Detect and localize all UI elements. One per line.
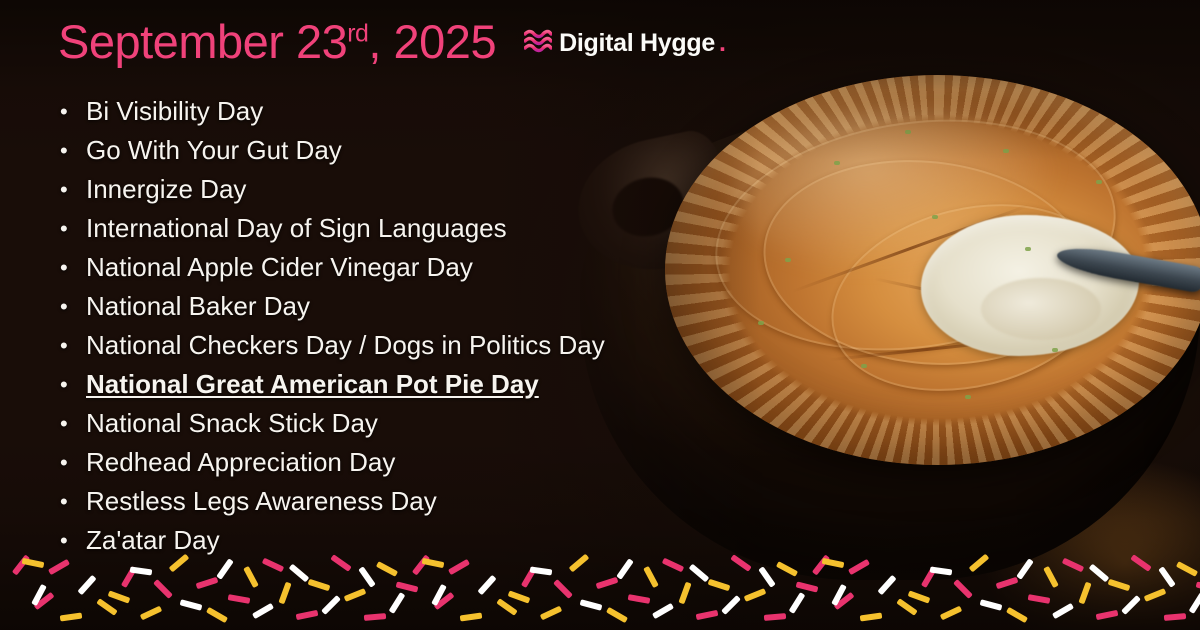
- bullet-icon: •: [60, 365, 86, 404]
- bullet-icon: •: [60, 248, 86, 287]
- sprinkle: [1052, 603, 1074, 619]
- list-item[interactable]: •International Day of Sign Languages: [60, 209, 605, 248]
- bullet-icon: •: [60, 131, 86, 170]
- bullet-icon: •: [60, 443, 86, 482]
- list-item-label: National Baker Day: [86, 287, 310, 326]
- list-item-label: Bi Visibility Day: [86, 92, 263, 131]
- parsley-flake: [1003, 149, 1009, 153]
- sprinkle: [96, 598, 117, 616]
- sprinkle: [1108, 579, 1131, 592]
- bullet-icon: •: [60, 170, 86, 209]
- sprinkle: [940, 606, 962, 621]
- bullet-icon: •: [60, 404, 86, 443]
- sprinkle: [422, 558, 445, 568]
- sprinkle: [206, 607, 228, 623]
- sprinkle: [330, 554, 351, 572]
- parsley-flake: [834, 161, 840, 165]
- list-item[interactable]: •National Apple Cider Vinegar Day: [60, 248, 605, 287]
- sprinkle: [696, 610, 719, 620]
- sprinkle: [730, 554, 751, 572]
- sprinkle: [1016, 558, 1034, 579]
- sprinkle: [877, 575, 896, 595]
- sprinkle: [996, 577, 1019, 590]
- sprinkle: [296, 610, 319, 620]
- sprinkle: [344, 588, 367, 602]
- sprinkle: [460, 612, 483, 621]
- sprinkle: [969, 554, 990, 573]
- sprinkle: [396, 581, 419, 592]
- confetti-sprinkles-border: [0, 552, 1200, 630]
- date-day: 23: [296, 15, 347, 68]
- sprinkle: [1096, 610, 1119, 620]
- list-item[interactable]: •Bi Visibility Day: [60, 92, 605, 131]
- parsley-flake: [861, 364, 867, 368]
- sprinkle: [77, 575, 96, 595]
- list-item-label: Redhead Appreciation Day: [86, 443, 395, 482]
- sprinkle: [1176, 561, 1198, 577]
- sprinkle: [1121, 595, 1141, 615]
- sprinkle: [321, 595, 341, 615]
- holiday-list: •Bi Visibility Day•Go With Your Gut Day•…: [60, 92, 605, 560]
- sprinkle: [540, 606, 562, 621]
- sprinkle: [22, 558, 45, 568]
- list-item-label: National Great American Pot Pie Day: [86, 365, 539, 404]
- bullet-icon: •: [60, 287, 86, 326]
- sprinkle: [228, 594, 251, 604]
- sprinkle: [358, 566, 376, 587]
- sprinkle: [662, 558, 684, 573]
- sprinkle: [908, 590, 931, 603]
- social-graphic-canvas: September 23rd, 2025 Digital H: [0, 0, 1200, 630]
- list-item-label: Innergize Day: [86, 170, 246, 209]
- sprinkle: [596, 577, 619, 590]
- sprinkle: [721, 595, 741, 615]
- wave-lines-icon: [524, 28, 552, 59]
- sprinkle: [1144, 588, 1167, 602]
- parsley-flake: [905, 130, 911, 134]
- list-item[interactable]: •Go With Your Gut Day: [60, 131, 605, 170]
- sprinkle: [678, 582, 691, 605]
- sprinkle: [896, 598, 917, 616]
- sprinkle: [48, 559, 70, 575]
- sprinkle: [1158, 566, 1176, 587]
- sprinkle: [508, 590, 531, 603]
- sprinkle: [796, 581, 819, 592]
- sprinkle: [1078, 582, 1091, 605]
- bullet-icon: •: [60, 482, 86, 521]
- list-item-label: National Snack Stick Day: [86, 404, 378, 443]
- sprinkle: [252, 603, 274, 619]
- sprinkle: [580, 599, 603, 610]
- sprinkle: [108, 590, 131, 603]
- date-month: September: [58, 15, 296, 68]
- sprinkle: [569, 554, 590, 573]
- bullet-icon: •: [60, 92, 86, 131]
- sprinkle: [1006, 607, 1028, 623]
- date-year: , 2025: [368, 15, 496, 68]
- sprinkle: [153, 579, 173, 599]
- list-item[interactable]: •Redhead Appreciation Day: [60, 443, 605, 482]
- parsley-flake: [785, 258, 791, 262]
- sprinkle: [1130, 554, 1151, 572]
- sprinkle: [169, 554, 190, 573]
- sprinkle: [60, 612, 83, 621]
- sprinkle: [216, 558, 234, 579]
- list-item[interactable]: •Innergize Day: [60, 170, 605, 209]
- list-item-label: National Checkers Day / Dogs in Politics…: [86, 326, 605, 365]
- sprinkle: [180, 599, 203, 610]
- brand-logo[interactable]: Digital Hygge .: [524, 28, 726, 59]
- brand-dot: .: [719, 29, 726, 58]
- bullet-icon: •: [60, 209, 86, 248]
- parsley-flake: [965, 395, 971, 399]
- sprinkle: [953, 579, 973, 599]
- sprinkle: [376, 561, 398, 577]
- sprinkle: [628, 594, 651, 604]
- sprinkle: [789, 592, 806, 614]
- sprinkle: [616, 558, 634, 579]
- page-title: September 23rd, 2025: [58, 18, 496, 65]
- sprinkle: [1028, 594, 1051, 604]
- sprinkle: [389, 592, 406, 614]
- sprinkle: [848, 559, 870, 575]
- sprinkle: [606, 607, 628, 623]
- sprinkle: [289, 564, 310, 583]
- list-item[interactable]: •National Baker Day: [60, 287, 605, 326]
- sprinkle: [776, 561, 798, 577]
- sprinkle: [364, 613, 386, 621]
- sprinkle: [758, 566, 776, 587]
- list-item[interactable]: •National Checkers Day / Dogs in Politic…: [60, 326, 605, 365]
- parsley-flake: [1025, 247, 1031, 251]
- list-item[interactable]: •Restless Legs Awareness Day: [60, 482, 605, 521]
- sprinkle: [1062, 558, 1084, 573]
- sprinkle: [448, 559, 470, 575]
- sprinkle: [140, 606, 162, 621]
- sprinkle: [1043, 566, 1059, 588]
- sprinkle: [643, 566, 659, 588]
- brand-name: Digital Hygge: [559, 29, 715, 58]
- list-item[interactable]: •National Snack Stick Day: [60, 404, 605, 443]
- header: September 23rd, 2025 Digital H: [58, 18, 726, 65]
- sprinkle: [553, 579, 573, 599]
- sprinkle: [822, 558, 845, 568]
- parsley-flake: [758, 321, 764, 325]
- list-item-label: International Day of Sign Languages: [86, 209, 507, 248]
- sprinkle: [243, 566, 259, 588]
- sprinkle: [1164, 613, 1186, 621]
- sprinkle: [1196, 581, 1200, 592]
- bullet-icon: •: [60, 326, 86, 365]
- sprinkle: [860, 612, 883, 621]
- sprinkle: [477, 575, 496, 595]
- sprinkle: [496, 598, 517, 616]
- list-item[interactable]: •National Great American Pot Pie Day: [60, 365, 605, 404]
- parsley-flake: [1096, 180, 1102, 184]
- creamy-filling-secondary: [981, 278, 1101, 340]
- list-item-label: Go With Your Gut Day: [86, 131, 342, 170]
- sprinkle: [262, 558, 284, 573]
- sprinkle: [196, 577, 219, 590]
- sprinkle: [652, 603, 674, 619]
- sprinkle: [1189, 592, 1200, 614]
- list-item-label: National Apple Cider Vinegar Day: [86, 248, 473, 287]
- sprinkle: [689, 564, 710, 583]
- sprinkle: [980, 599, 1003, 610]
- sprinkle: [744, 588, 767, 602]
- date-ordinal-suffix: rd: [347, 19, 368, 47]
- parsley-flake: [1052, 348, 1058, 352]
- list-item-label: Restless Legs Awareness Day: [86, 482, 437, 521]
- sprinkle: [308, 579, 331, 592]
- sprinkle: [708, 579, 731, 592]
- sprinkle: [278, 582, 291, 605]
- sprinkle: [764, 613, 786, 621]
- sprinkle: [1089, 564, 1110, 583]
